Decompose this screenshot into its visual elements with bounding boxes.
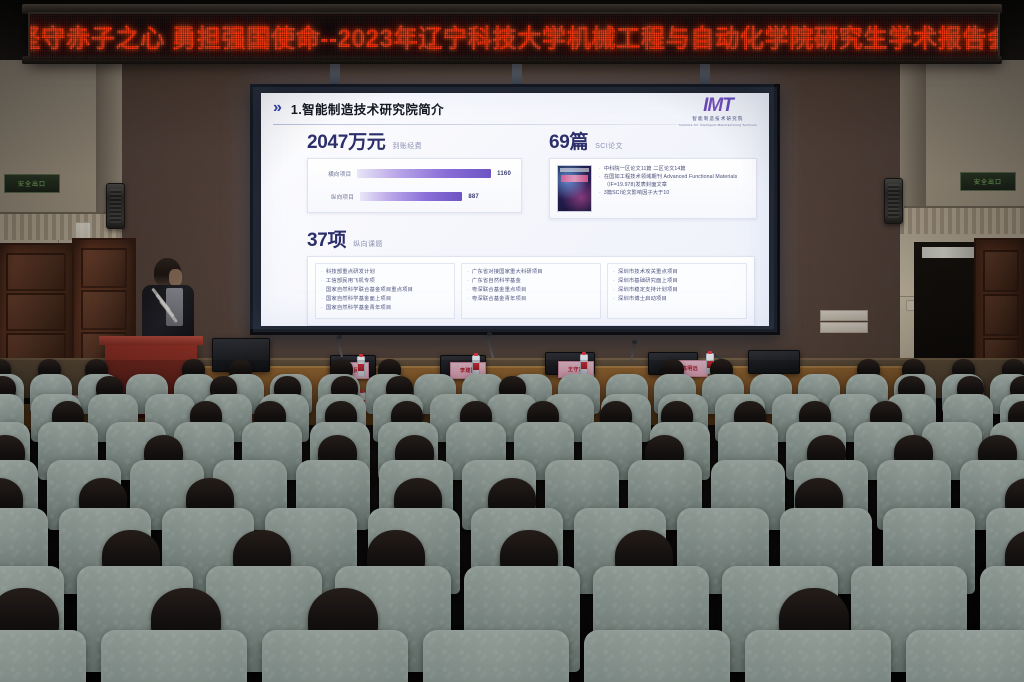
project-list-item: ·国家自然科学基金面上项目: [321, 295, 449, 304]
bar-track: [357, 169, 491, 178]
project-list-item-text: 深圳市基础研究面上项目: [618, 277, 678, 286]
project-list-item-text: 深圳市技术攻关重点项目: [618, 268, 678, 277]
funding-bar-chart: 横向项目1160纵向项目887: [307, 158, 522, 213]
projects-block: 37项 纵向课题 ·科技部重点研发计划·工信部民用飞机专项·国家自然科学联合基金…: [307, 231, 755, 326]
papers-bullet-item: ·中科院一区论文11篇 二区论文14篇: [599, 165, 749, 173]
projects-column-2: ·广东省对接国家重大科研项目·广东省自然科学基金·粤深联合基金重点项目·粤深联合…: [461, 263, 601, 319]
auditorium-seat: [906, 630, 1024, 682]
doorway-light-strip: [922, 247, 976, 258]
bullet-dot-icon: ·: [599, 173, 601, 189]
bullet-dot-icon: ·: [613, 277, 615, 286]
papers-bullet-text: 在国如工程技术领域期刊 Advanced Functional Material…: [604, 173, 749, 189]
journal-cover-image: [557, 165, 592, 212]
papers-count: 69篇: [549, 133, 588, 152]
project-list-item-text: 深圳市稳定支持计划项目: [618, 286, 678, 295]
bullet-dot-icon: ·: [321, 295, 323, 304]
project-list-item: ·深圳市基础研究面上项目: [613, 277, 741, 286]
project-list-item-text: 深圳市博士启动项目: [618, 295, 667, 304]
exit-sign-right: 安全出口: [960, 172, 1016, 191]
projection-screen: » 1.智能制造技术研究院简介 IMT 智能制造技术研究院 Institute …: [250, 84, 780, 335]
project-list-item-text: 国家自然科学基金青年项目: [326, 304, 391, 313]
bullet-dot-icon: ·: [467, 268, 469, 277]
bullet-dot-icon: ·: [467, 295, 469, 304]
door-left-a[interactable]: [0, 243, 78, 372]
project-list-item: ·粤深联合基金青年项目: [467, 295, 595, 304]
papers-bullet-item: ·在国如工程技术领域期刊 Advanced Functional Materia…: [599, 173, 749, 189]
projects-column-1: ·科技部重点研发计划·工信部民用飞机专项·国家自然科学联合基金项目重点项目·国家…: [315, 263, 455, 319]
bar-category-label: 纵向项目: [312, 193, 354, 201]
papers-card: ·中科院一区论文11篇 二区论文14篇·在国如工程技术领域期刊 Advanced…: [549, 158, 757, 219]
bullet-dot-icon: ·: [613, 268, 615, 277]
bar-category-label: 横向项目: [312, 170, 351, 178]
exit-sign-left-label: 安全出口: [18, 179, 46, 188]
bar-row: 横向项目1160: [312, 169, 511, 178]
auditorium-seat: [584, 630, 730, 682]
project-list-item: ·国家自然科学联合基金项目重点项目: [321, 286, 449, 295]
imt-logo: IMT 智能制造技术研究院 Institute for Intelligent …: [679, 96, 757, 127]
project-list-item: ·工信部民用飞机专项: [321, 277, 449, 286]
podium-top: [99, 336, 203, 345]
bullet-dot-icon: ·: [467, 286, 469, 295]
presentation-slide: » 1.智能制造技术研究院简介 IMT 智能制造技术研究院 Institute …: [261, 93, 769, 326]
bar-track: [360, 192, 462, 201]
slide-title: 1.智能制造技术研究院简介: [291, 99, 444, 118]
projects-count: 37项: [307, 231, 346, 250]
project-list-item-text: 广东省对接国家重大科研项目: [472, 268, 543, 277]
auditorium-seat: [423, 630, 569, 682]
bar-fill: [360, 192, 462, 201]
bullet-dot-icon: ·: [321, 286, 323, 295]
wall-notice: [820, 310, 868, 321]
wall-speaker-left: [106, 183, 125, 229]
audience-seating: [0, 368, 1024, 682]
imt-logo-subtitle-cn: 智能制造技术研究院: [679, 116, 757, 122]
papers-bullet-list: ·中科院一区论文11篇 二区论文14篇·在国如工程技术领域期刊 Advanced…: [599, 165, 749, 197]
papers-heading: 69篇 SCI论文: [549, 133, 757, 152]
doorway-right[interactable]: [914, 242, 978, 370]
project-list-item: ·粤深联合基金重点项目: [467, 286, 595, 295]
project-list-item: ·广东省自然科学基金: [467, 277, 595, 286]
bar-value-label: 887: [468, 194, 479, 200]
project-list-item: ·深圳市博士启动项目: [613, 295, 741, 304]
project-list-item-text: 科技部重点研发计划: [326, 268, 375, 277]
wall-speaker-right: [884, 178, 903, 224]
led-banner-text: 坚守赤子之心 勇担强国使命--2023年辽宁科技大学机械工程与自动化学院研究生学…: [28, 19, 1000, 55]
auditorium-seat: [0, 630, 86, 682]
imt-logo-word: IMT: [679, 96, 757, 115]
exit-sign-left: 安全出口: [4, 174, 60, 193]
wall-notice: [820, 322, 868, 333]
conference-hall-photo: 安全出口 安全出口 » 1.智能制造技术研究院简介: [0, 0, 1024, 682]
papers-block: 69篇 SCI论文 ·中科院一区论文11篇 二区论文14篇·在国如工程技术领域期…: [549, 133, 757, 219]
funding-heading: 2047万元 到账经费: [307, 133, 522, 152]
auditorium-seat: [262, 630, 408, 682]
slide-body: 2047万元 到账经费 横向项目1160纵向项目887 69篇 SCI论文 ·中: [261, 127, 769, 322]
bullet-dot-icon: ·: [613, 295, 615, 304]
bullet-dot-icon: ·: [467, 277, 469, 286]
microphone-head: [632, 340, 637, 344]
funding-amount: 2047万元: [307, 133, 385, 152]
microphone-head: [487, 332, 492, 336]
bullet-dot-icon: ·: [321, 268, 323, 277]
bullet-dot-icon: ·: [599, 189, 601, 197]
project-list-item-text: 国家自然科学联合基金项目重点项目: [326, 286, 413, 295]
exit-sign-right-label: 安全出口: [974, 177, 1002, 186]
project-list-item-text: 国家自然科学基金面上项目: [326, 295, 391, 304]
project-list-item: ·广东省对接国家重大科研项目: [467, 268, 595, 277]
papers-label: SCI论文: [595, 141, 623, 151]
bar-row: 纵向项目887: [312, 192, 511, 201]
bar-value-label: 1160: [497, 171, 511, 177]
papers-bullet-text: 3篇SCI论文影响因子大于10: [604, 189, 670, 197]
presenter-face: [169, 269, 182, 286]
project-list-item: ·科技部重点研发计划: [321, 268, 449, 277]
led-banner-frame-bottom: [22, 56, 1002, 64]
project-list-item: ·深圳市稳定支持计划项目: [613, 286, 741, 295]
funding-block: 2047万元 到账经费 横向项目1160纵向项目887: [307, 133, 522, 213]
door-right[interactable]: [974, 238, 1024, 376]
auditorium-seat: [101, 630, 247, 682]
project-list-item: ·国家自然科学基金青年项目: [321, 304, 449, 313]
bar-fill: [357, 169, 491, 178]
bullet-dot-icon: ·: [321, 277, 323, 286]
chevron-right-icon: »: [273, 100, 279, 116]
project-list-item-text: 粤深联合基金青年项目: [472, 295, 526, 304]
bullet-dot-icon: ·: [599, 165, 601, 173]
project-list-item: ·深圳市技术攻关重点项目: [613, 268, 741, 277]
project-list-item-text: 工信部民用飞机专项: [326, 277, 375, 286]
projects-label: 纵向课题: [353, 239, 383, 249]
projects-column-3: ·深圳市技术攻关重点项目·深圳市基础研究面上项目·深圳市稳定支持计划项目·深圳市…: [607, 263, 747, 319]
project-list-item-text: 粤深联合基金重点项目: [472, 286, 526, 295]
projects-heading: 37项 纵向课题: [307, 231, 755, 250]
bullet-dot-icon: ·: [613, 286, 615, 295]
papers-bullet-item: ·3篇SCI论文影响因子大于10: [599, 189, 749, 197]
auditorium-seat: [745, 630, 891, 682]
funding-label: 到账经费: [392, 141, 422, 151]
led-banner: 坚守赤子之心 勇担强国使命--2023年辽宁科技大学机械工程与自动化学院研究生学…: [28, 12, 1000, 62]
microphone-head: [337, 335, 342, 339]
projects-card: ·科技部重点研发计划·工信部民用飞机专项·国家自然科学联合基金项目重点项目·国家…: [307, 256, 755, 326]
project-list-item-text: 广东省自然科学基金: [472, 277, 521, 286]
papers-bullet-text: 中科院一区论文11篇 二区论文14篇: [604, 165, 686, 173]
bullet-dot-icon: ·: [321, 304, 323, 313]
